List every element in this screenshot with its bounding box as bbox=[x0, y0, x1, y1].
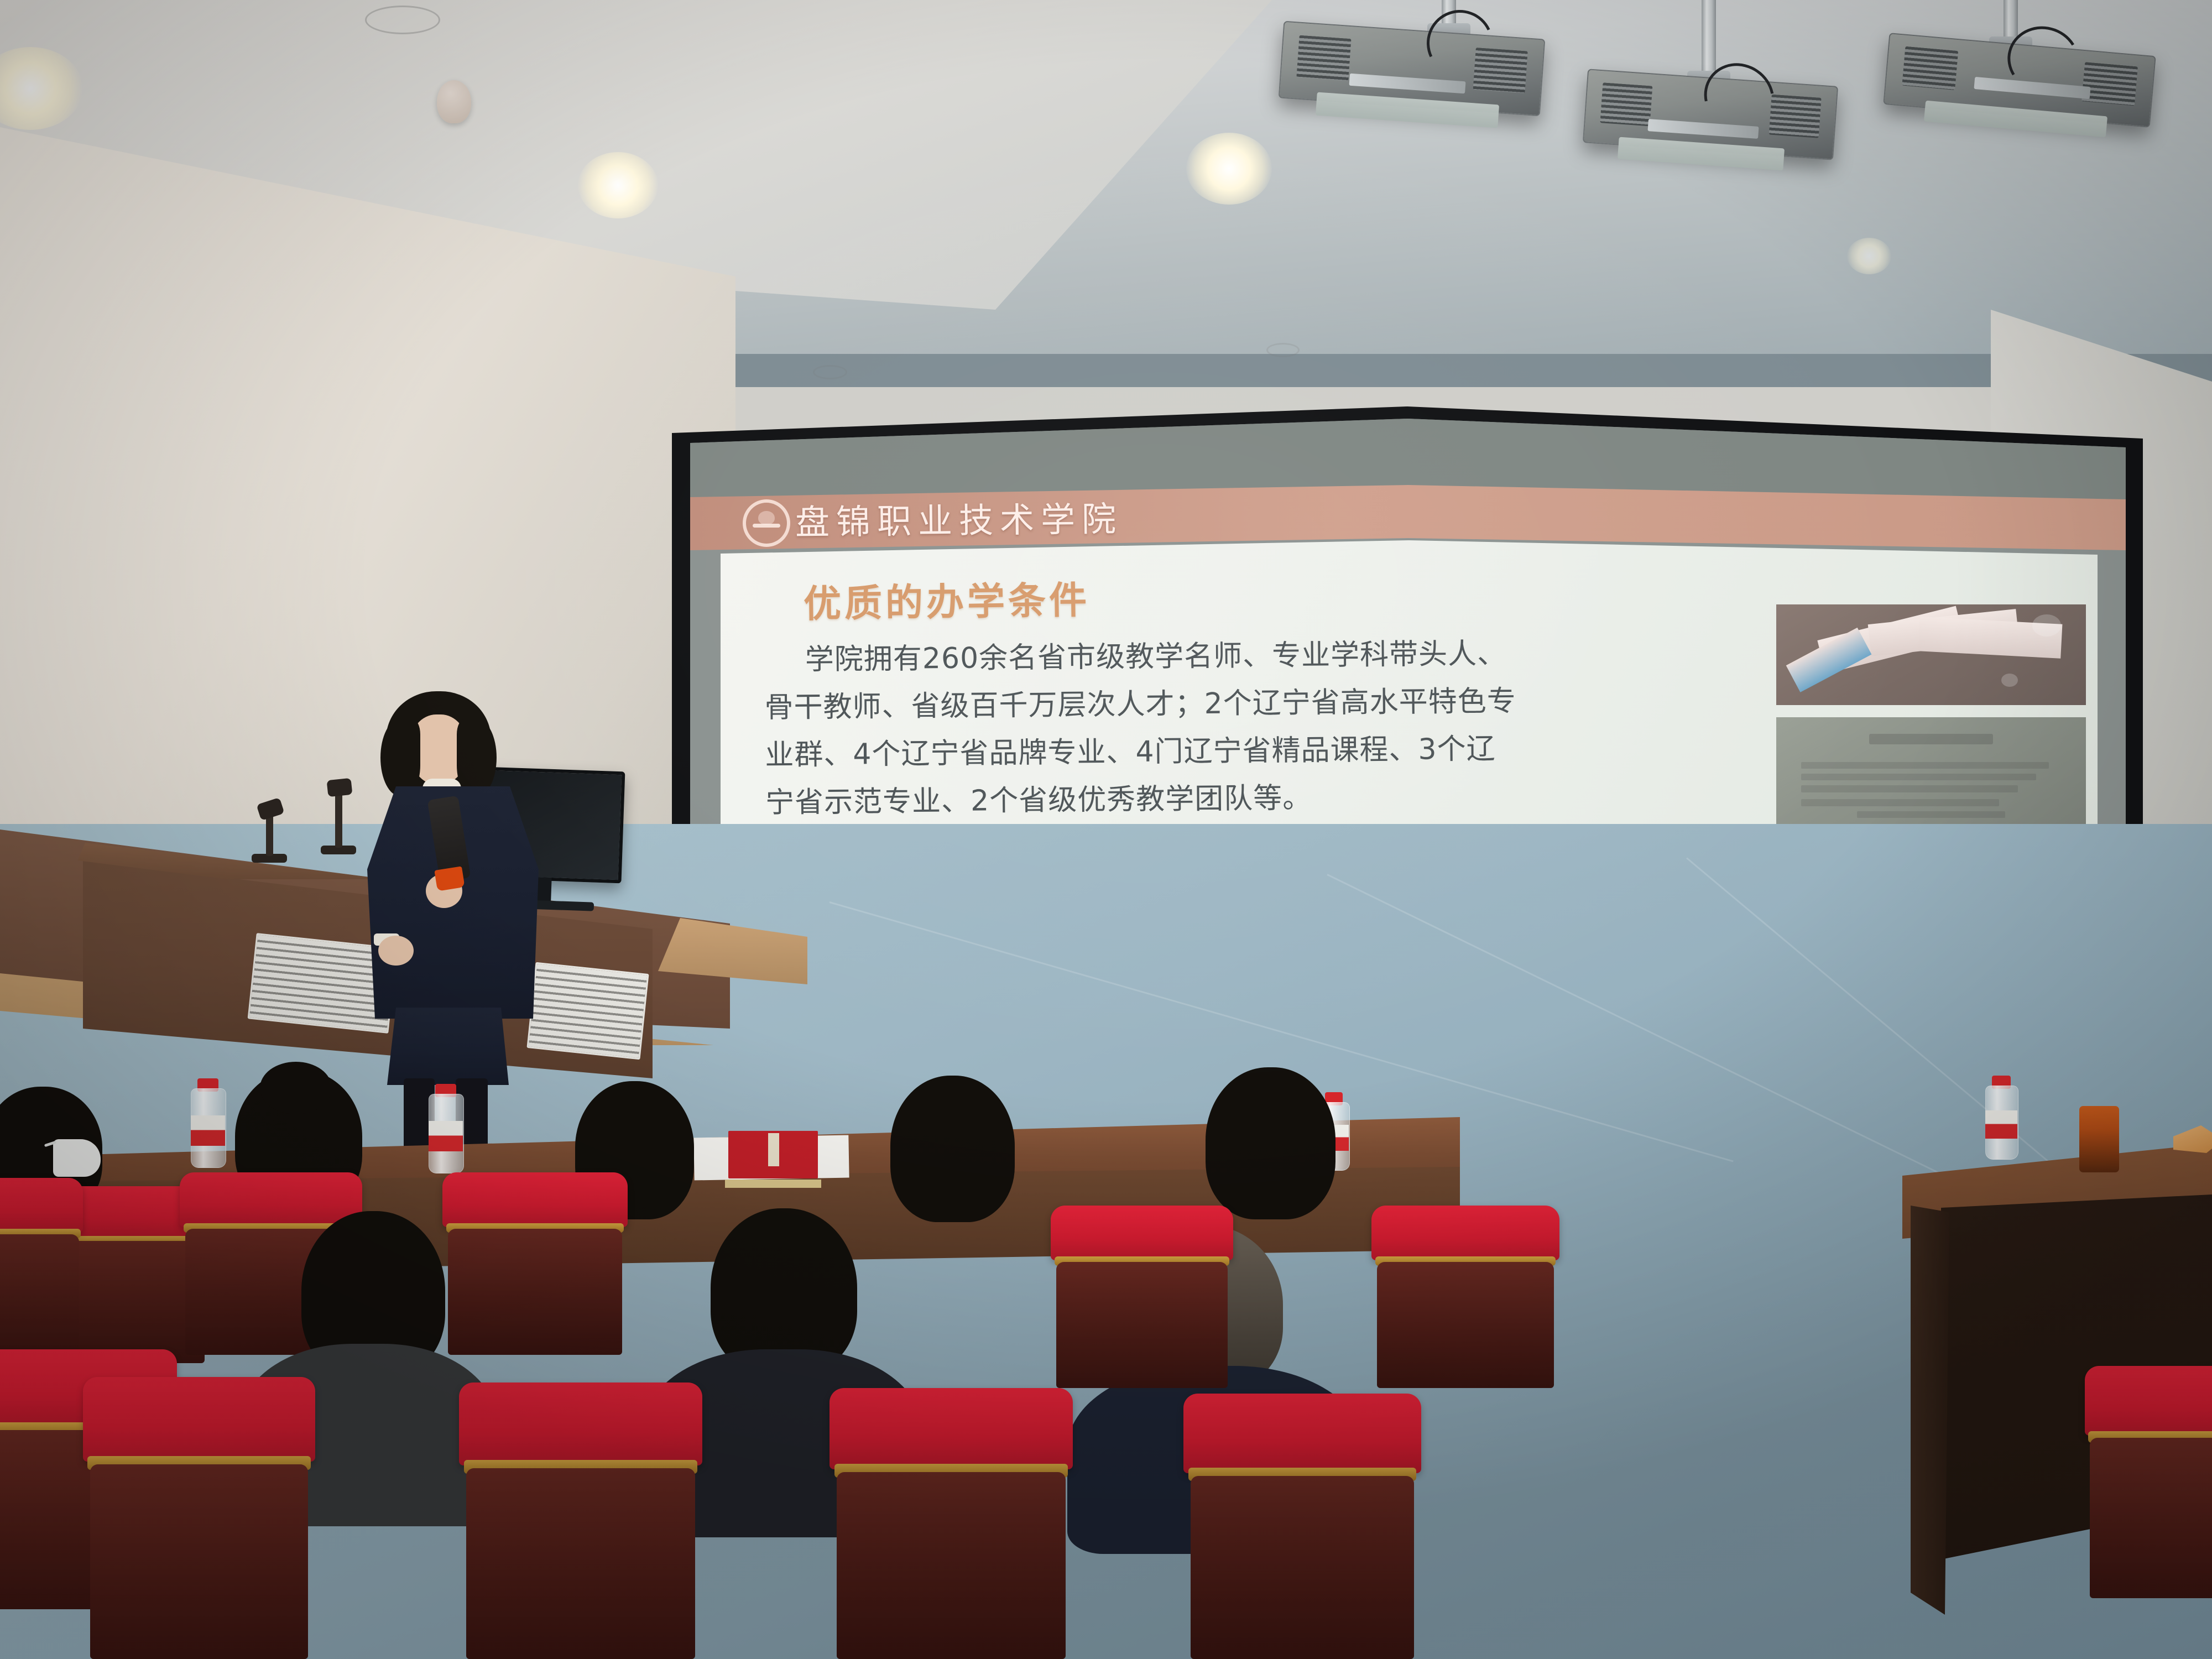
institution-name: 盘锦职业技术学院 bbox=[795, 500, 1123, 542]
ceiling-fixture-ring bbox=[365, 6, 440, 34]
auditorium-seat[interactable] bbox=[459, 1383, 702, 1659]
water-bottle[interactable] bbox=[429, 1084, 463, 1172]
slide-body-line: 宁省示范专业、2个省级优秀教学团队等。 bbox=[765, 770, 1767, 827]
water-bottle[interactable] bbox=[1985, 1076, 2017, 1159]
podium-microphone-left[interactable] bbox=[252, 796, 290, 863]
slide-title: 优质的办学条件 bbox=[803, 569, 1090, 628]
auditorium-seat[interactable] bbox=[1371, 1206, 1559, 1388]
presenter-hair-side bbox=[457, 719, 497, 796]
auditorium-seat[interactable] bbox=[442, 1172, 628, 1355]
downlight bbox=[1847, 238, 1891, 274]
audience-member-long-hair-center bbox=[890, 1076, 1015, 1222]
side-desk-right-leg bbox=[1911, 1206, 1949, 1615]
red-notebook[interactable] bbox=[694, 1131, 849, 1192]
auditorium-seat[interactable] bbox=[2085, 1366, 2212, 1598]
slide-body-line: 业群、4个辽宁省品牌专业、4门辽宁省精品课程、3个辽 bbox=[765, 723, 1766, 779]
certificates-photo bbox=[1776, 604, 2086, 705]
ceiling-fixture-ring bbox=[1266, 343, 1300, 357]
water-bottle[interactable] bbox=[191, 1078, 225, 1167]
auditorium-seat[interactable] bbox=[830, 1388, 1073, 1659]
school-seal-logo bbox=[743, 499, 790, 547]
auditorium-seat[interactable] bbox=[83, 1377, 315, 1659]
audience-hair-bun bbox=[260, 1062, 332, 1114]
ceiling-fixture-ring bbox=[813, 365, 847, 379]
presenter bbox=[343, 691, 575, 1112]
slide-body-line: 学院拥有260余名省市级教学名师、专业学科带头人、 bbox=[764, 628, 1766, 684]
slide-body-text: 学院拥有260余名省市级教学名师、专业学科带头人、 骨干教师、省级百千万层次人才… bbox=[764, 628, 1767, 827]
ceiling-projector-center bbox=[1565, 0, 1841, 166]
auditorium-seat[interactable] bbox=[1183, 1394, 1421, 1659]
award-document-photo bbox=[1776, 717, 2086, 834]
ceiling-projector-left bbox=[1266, 0, 1543, 144]
ceiling-projector-right bbox=[1875, 0, 2184, 138]
downlight bbox=[578, 152, 658, 218]
auditorium-seat[interactable] bbox=[1051, 1206, 1233, 1388]
face-mask bbox=[53, 1139, 101, 1177]
smoke-detector-icon bbox=[437, 80, 471, 123]
auditorium-seat[interactable] bbox=[0, 1178, 83, 1360]
presenter-skirt bbox=[387, 1008, 509, 1085]
microphone-band bbox=[434, 866, 465, 891]
presenter-hand-right bbox=[378, 936, 414, 966]
slide-body-line: 骨干教师、省级百千万层次人才；2个辽宁省高水平特色专 bbox=[764, 675, 1766, 732]
thermos-jar[interactable] bbox=[2079, 1106, 2119, 1172]
presenter-hair-side bbox=[380, 719, 420, 796]
audience-member-long-hair-right bbox=[1206, 1067, 1335, 1219]
lecture-hall-scene: 盘锦职业技术学院 优质的办学条件 学院拥有260余名省市级教学名师、专业学科带头… bbox=[0, 0, 2212, 1659]
downlight bbox=[1186, 133, 1272, 205]
